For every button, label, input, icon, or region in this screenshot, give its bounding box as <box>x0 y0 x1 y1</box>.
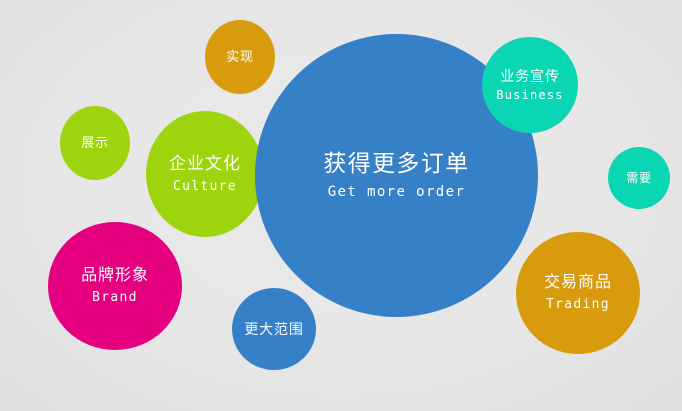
bubble-range[interactable]: 更大范围 <box>232 288 316 370</box>
bubble-main-cn-label: 获得更多订单 <box>323 150 469 177</box>
bubble-business[interactable]: 业务宣传 Business <box>482 37 578 133</box>
bubble-shixian[interactable]: 实现 <box>205 20 275 94</box>
bubble-trading[interactable]: 交易商品 Trading <box>516 232 640 354</box>
bubble-main-en-label: Get more order <box>328 184 466 201</box>
bubble-zhanshi-cn-label: 展示 <box>81 135 109 150</box>
bubble-shixian-cn-label: 实现 <box>226 49 254 64</box>
bubble-culture-cn-label: 企业文化 <box>169 154 241 174</box>
bubble-diagram-canvas: 品牌形象 Brand 展示 企业文化 Culture 实现 交易商品 Tradi… <box>0 0 682 411</box>
bubble-culture-en-label: Culture <box>173 179 237 194</box>
bubble-brand-cn-label: 品牌形象 <box>81 267 149 286</box>
bubble-brand[interactable]: 品牌形象 Brand <box>48 222 182 350</box>
bubble-brand-en-label: Brand <box>92 290 138 305</box>
bubble-need[interactable]: 需要 <box>608 147 670 209</box>
bubble-need-cn-label: 需要 <box>626 171 651 185</box>
bubble-business-cn-label: 业务宣传 <box>500 68 559 85</box>
bubble-range-cn-label: 更大范围 <box>244 321 303 338</box>
bubble-zhanshi[interactable]: 展示 <box>60 106 130 180</box>
bubble-culture[interactable]: 企业文化 Culture <box>146 111 264 237</box>
bubble-trading-en-label: Trading <box>546 297 610 312</box>
bubble-business-en-label: Business <box>496 88 563 102</box>
bubble-trading-cn-label: 交易商品 <box>544 274 612 293</box>
